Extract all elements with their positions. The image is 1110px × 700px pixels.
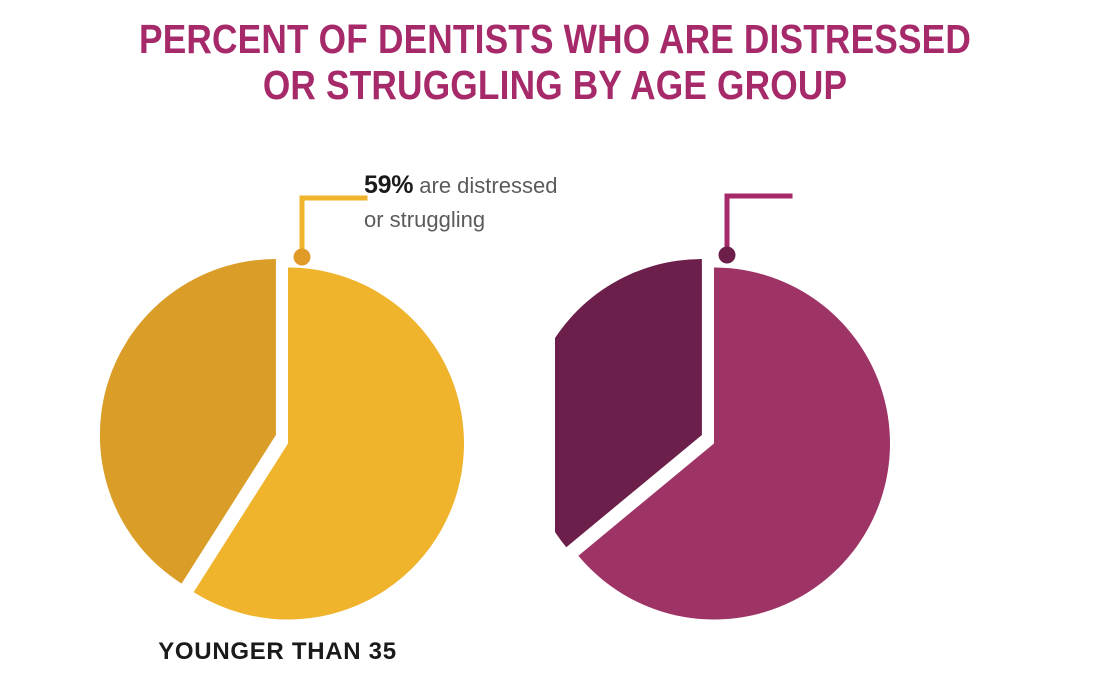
callout-percent-value: 59%	[364, 171, 413, 199]
pie-chart-younger-than-35	[0, 0, 555, 700]
group-label-younger-than-35: YOUNGER THAN 35	[0, 638, 555, 666]
pie-chart-ages-35-44	[555, 0, 1110, 700]
callout-text-line-1: are distressed	[419, 173, 557, 198]
leader-dot-icon	[719, 247, 736, 264]
chart-panel-younger-than-35: 59% are distressed or struggling YOUNGER…	[0, 0, 555, 700]
pie-chart-younger-svg	[0, 0, 555, 700]
chart-panel-ages-35-44: 64% are distressed or struggling AGES 35…	[555, 0, 1110, 700]
pie-chart-ages-svg	[555, 0, 1110, 700]
elbow-leader-line-icon	[302, 198, 365, 255]
leader-dot-icon	[294, 249, 311, 266]
elbow-leader-line-icon	[727, 196, 790, 253]
